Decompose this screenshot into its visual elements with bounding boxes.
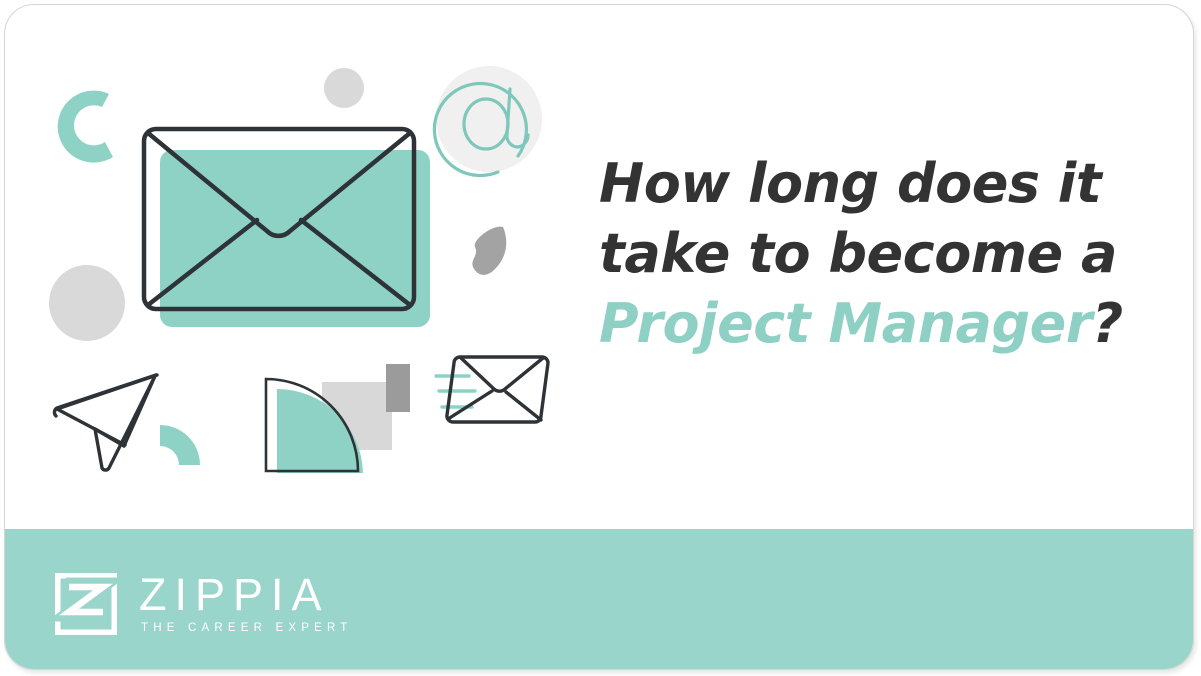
headline-question-mark: ? [1092,292,1123,355]
large-envelope [144,129,430,327]
small-envelope [436,357,548,422]
zippia-z-mark [55,573,117,635]
headline-accent-manager: Manager [828,292,1091,355]
page-title: How long does it take to become a Projec… [599,149,1179,360]
gray-circle-large [49,265,125,341]
promo-card: How long does it take to become a Projec… [4,4,1194,670]
teal-arc [160,425,200,465]
logo-text-block: ZIPPIA THE CAREER EXPERT [139,574,353,634]
gray-droplet [472,227,506,275]
logo-tagline: THE CAREER EXPERT [141,622,353,634]
gray-rect-dark [386,364,410,412]
gray-circle-small [324,68,364,108]
headline-accent-project: Project [599,292,810,355]
motion-lines [436,376,475,407]
zippia-logo: ZIPPIA THE CAREER EXPERT [55,573,353,635]
teal-crescent [58,91,113,163]
paper-plane [54,375,200,470]
headline-line-2-prefix: to become a [748,222,1117,285]
illustration [5,5,605,529]
quarter-circle-composition [266,364,410,473]
logo-wordmark: ZIPPIA [139,574,353,617]
